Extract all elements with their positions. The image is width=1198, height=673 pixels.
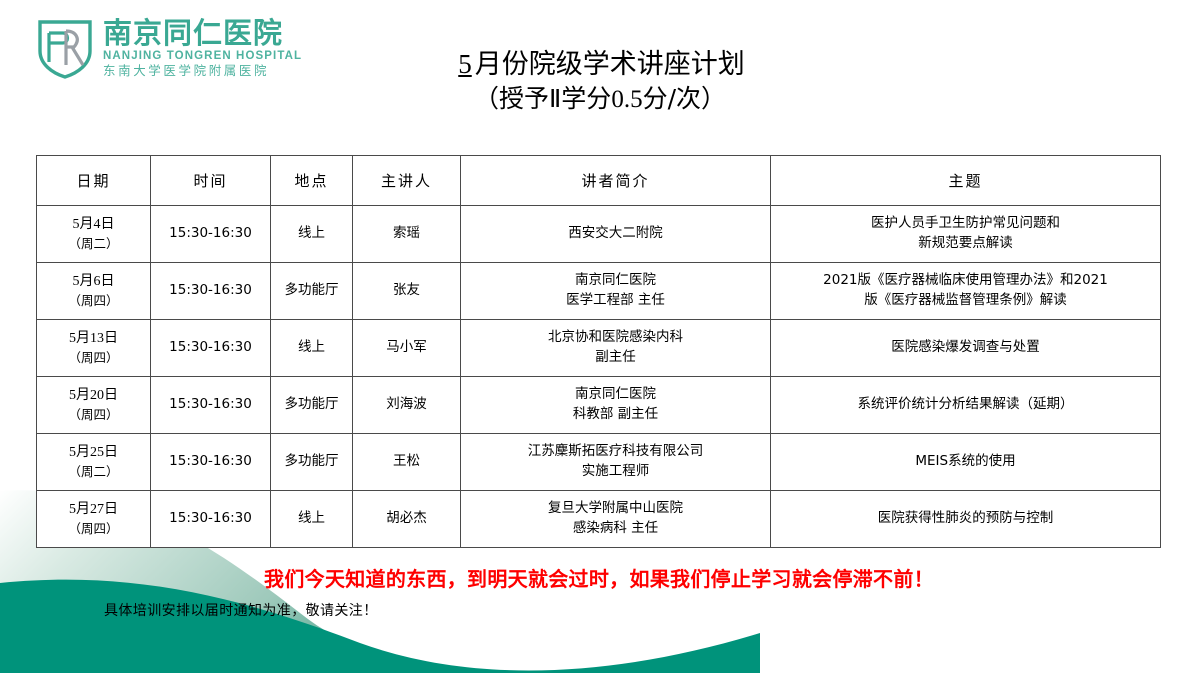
cell-topic: 医院感染爆发调查与处置 [771,320,1161,377]
schedule-table: 日期 时间 地点 主讲人 讲者简介 主题 5月4日 （周二） 15:30-16:… [36,155,1161,548]
schedule-table-wrap: 日期 时间 地点 主讲人 讲者简介 主题 5月4日 （周二） 15:30-16:… [36,155,1160,548]
cell-topic-line1: 医院获得性肺炎的预防与控制 [774,509,1157,529]
cell-topic-line1: 医院感染爆发调查与处置 [774,338,1157,358]
cell-date-day: 5月4日 [40,215,147,235]
cell-bio-line1: 复旦大学附属中山医院 [464,499,767,519]
table-header-row: 日期 时间 地点 主讲人 讲者简介 主题 [37,156,1161,206]
cell-date-week: （周四） [40,520,147,538]
cell-bio-line1: 南京同仁医院 [464,385,767,405]
cell-bio-line1: 南京同仁医院 [464,271,767,291]
cell-date-day: 5月6日 [40,272,147,292]
logo-affiliation: 东南大学医学院附属医院 [103,65,302,78]
cell-speaker: 王松 [353,434,461,491]
cell-place: 线上 [271,491,353,548]
cell-bio-line2: 副主任 [464,348,767,368]
cell-time: 15:30-16:30 [151,206,271,263]
cell-bio: 复旦大学附属中山医院 感染病科 主任 [461,491,771,548]
cell-date-day: 5月27日 [40,500,147,520]
cell-place: 线上 [271,206,353,263]
logo-name-en: NANJING TONGREN HOSPITAL [103,51,302,63]
title-credit-unit: 分/次 [643,84,701,113]
table-row: 5月4日 （周二） 15:30-16:30 线上 索瑶 西安交大二附院 医护人员… [37,206,1161,263]
title-credit-level: Ⅱ [549,86,561,113]
hospital-logo: 南京同仁医院 NANJING TONGREN HOSPITAL 东南大学医学院附… [36,14,306,82]
cell-speaker: 马小军 [353,320,461,377]
cell-bio: 北京协和医院感染内科 副主任 [461,320,771,377]
cell-date: 5月4日 （周二） [37,206,151,263]
cell-bio-line2: 感染病科 主任 [464,519,767,539]
table-row: 5月6日 （周四） 15:30-16:30 多功能厅 张友 南京同仁医院 医学工… [37,263,1161,320]
cell-bio-line1: 江苏麇斯拓医疗科技有限公司 [464,442,767,462]
cell-time: 15:30-16:30 [151,263,271,320]
cell-speaker: 索瑶 [353,206,461,263]
cell-time: 15:30-16:30 [151,377,271,434]
cell-time: 15:30-16:30 [151,434,271,491]
title-main-line: 5月份院级学术讲座计划 [330,48,870,82]
footer-slogan: 我们今天知道的东西，到明天就会过时，如果我们停止学习就会停滞不前！ [0,563,1198,592]
cell-date-day: 5月13日 [40,329,147,349]
column-header-topic: 主题 [771,156,1161,206]
cell-bio-line1: 北京协和医院感染内科 [464,328,767,348]
logo-text-block: 南京同仁医院 NANJING TONGREN HOSPITAL 东南大学医学院附… [103,19,302,78]
cell-date-week: （周四） [40,292,147,310]
cell-topic: 系统评价统计分析结果解读（延期） [771,377,1161,434]
cell-date-day: 5月20日 [40,386,147,406]
cell-time: 15:30-16:30 [151,320,271,377]
cell-place: 多功能厅 [271,377,353,434]
cell-date-week: （周二） [40,463,147,481]
cell-speaker: 张友 [353,263,461,320]
cell-date: 5月20日 （周四） [37,377,151,434]
table-row: 5月27日 （周四） 15:30-16:30 线上 胡必杰 复旦大学附属中山医院… [37,491,1161,548]
cell-bio: 南京同仁医院 医学工程部 主任 [461,263,771,320]
cell-bio: 南京同仁医院 科教部 副主任 [461,377,771,434]
table-row: 5月20日 （周四） 15:30-16:30 多功能厅 刘海波 南京同仁医院 科… [37,377,1161,434]
cell-topic: 医院获得性肺炎的预防与控制 [771,491,1161,548]
cell-date: 5月13日 （周四） [37,320,151,377]
table-head: 日期 时间 地点 主讲人 讲者简介 主题 [37,156,1161,206]
cell-date-week: （周四） [40,406,147,424]
footer-note: 具体培训安排以届时通知为准，敬请关注！ [104,600,378,620]
cell-date: 5月25日 （周二） [37,434,151,491]
column-header-time: 时间 [151,156,271,206]
cell-bio-line2: 科教部 副主任 [464,405,767,425]
table-body: 5月4日 （周二） 15:30-16:30 线上 索瑶 西安交大二附院 医护人员… [37,206,1161,548]
column-header-bio: 讲者简介 [461,156,771,206]
cell-topic: 2021版《医疗器械临床使用管理办法》和2021 版《医疗器械监督管理条例》解读 [771,263,1161,320]
cell-bio: 江苏麇斯拓医疗科技有限公司 实施工程师 [461,434,771,491]
cell-speaker: 胡必杰 [353,491,461,548]
logo-mark-icon [36,17,94,79]
cell-bio-line2: 医学工程部 主任 [464,291,767,311]
cell-bio: 西安交大二附院 [461,206,771,263]
cell-time: 15:30-16:30 [151,491,271,548]
title-sub-line: （授予Ⅱ学分0.5分/次） [330,83,870,117]
cell-topic-line1: MEIS系统的使用 [774,452,1157,472]
title-sub-mid: 学分 [561,84,611,113]
cell-date: 5月6日 （周四） [37,263,151,320]
title-sub-open: （授予 [474,84,549,113]
logo-name-cn: 南京同仁医院 [103,19,302,48]
cell-place: 多功能厅 [271,434,353,491]
cell-topic-line1: 2021版《医疗器械临床使用管理办法》和2021 [774,271,1157,291]
column-header-speaker: 主讲人 [353,156,461,206]
title-credit-value: 0.5 [611,86,642,113]
title-main-suffix: 月份院级学术讲座计划 [475,49,745,80]
cell-place: 线上 [271,320,353,377]
cell-topic-line2: 新规范要点解读 [774,234,1157,254]
column-header-place: 地点 [271,156,353,206]
cell-date-week: （周四） [40,349,147,367]
title-month-value: 5 [455,49,475,79]
cell-date-week: （周二） [40,235,147,253]
cell-speaker: 刘海波 [353,377,461,434]
cell-place: 多功能厅 [271,263,353,320]
title-sub-close: ） [701,84,726,113]
cell-topic-line1: 医护人员手卫生防护常见问题和 [774,214,1157,234]
cell-date-day: 5月25日 [40,443,147,463]
cell-topic-line1: 系统评价统计分析结果解读（延期） [774,395,1157,415]
page-title: 5月份院级学术讲座计划 （授予Ⅱ学分0.5分/次） [330,48,870,116]
cell-bio-line1: 西安交大二附院 [464,224,767,244]
cell-topic: 医护人员手卫生防护常见问题和 新规范要点解读 [771,206,1161,263]
column-header-date: 日期 [37,156,151,206]
cell-date: 5月27日 （周四） [37,491,151,548]
table-row: 5月25日 （周二） 15:30-16:30 多功能厅 王松 江苏麇斯拓医疗科技… [37,434,1161,491]
slide-page: 南京同仁医院 NANJING TONGREN HOSPITAL 东南大学医学院附… [0,0,1198,673]
cell-topic: MEIS系统的使用 [771,434,1161,491]
table-row: 5月13日 （周四） 15:30-16:30 线上 马小军 北京协和医院感染内科… [37,320,1161,377]
cell-bio-line2: 实施工程师 [464,462,767,482]
cell-topic-line2: 版《医疗器械监督管理条例》解读 [774,291,1157,311]
